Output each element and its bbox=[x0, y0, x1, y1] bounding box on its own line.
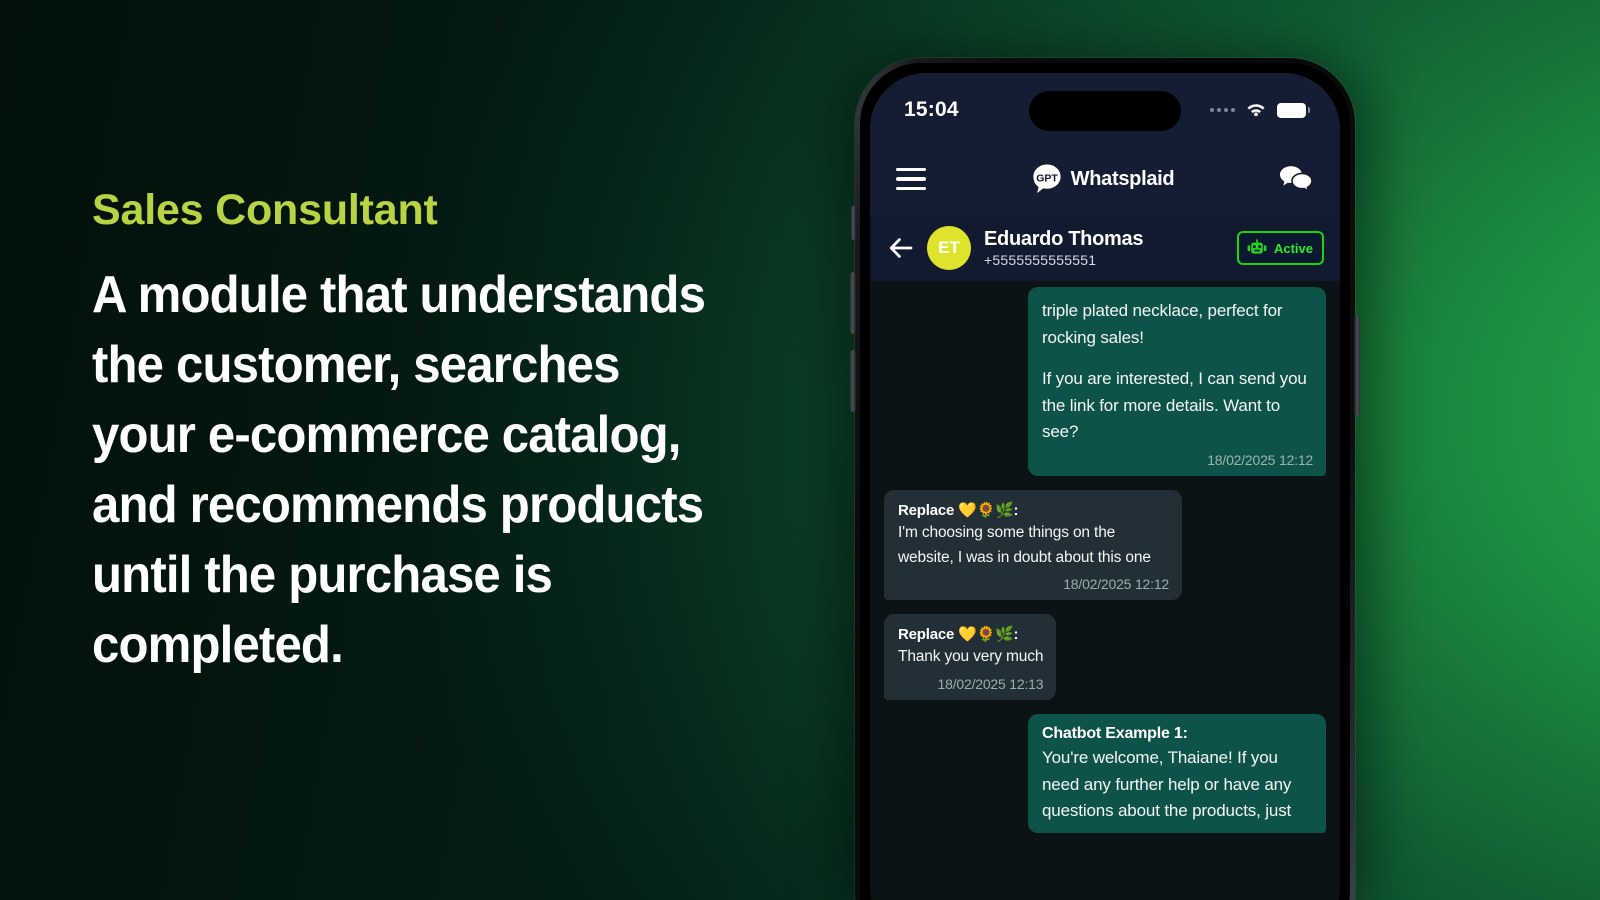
contact-header: ET Eduardo Thomas +5555555555551 bbox=[870, 215, 1340, 281]
status-indicators bbox=[1210, 101, 1306, 119]
power-button[interactable] bbox=[1354, 316, 1360, 416]
app-bar: GPT Whatsplaid bbox=[870, 143, 1340, 215]
message-row: Replace 💛🌻🌿:I'm choosing some things on … bbox=[884, 490, 1326, 600]
message-list: triple plated necklace, perfect for rock… bbox=[884, 293, 1326, 847]
message-text: Thank you very much bbox=[898, 645, 1043, 669]
chat-area[interactable]: triple plated necklace, perfect for rock… bbox=[870, 281, 1340, 900]
message-row: Replace 💛🌻🌿:Thank you very much18/02/202… bbox=[884, 614, 1326, 699]
incoming-message-bubble[interactable]: Replace 💛🌻🌿:I'm choosing some things on … bbox=[884, 490, 1182, 600]
message-timestamp: 18/02/2025 12:12 bbox=[1042, 452, 1313, 468]
brand-logo: GPT Whatsplaid bbox=[1030, 162, 1175, 196]
contact-phone: +5555555555551 bbox=[984, 252, 1143, 268]
promo-eyebrow: Sales Consultant bbox=[92, 188, 772, 233]
outgoing-message-bubble[interactable]: triple plated necklace, perfect for rock… bbox=[1028, 287, 1326, 476]
message-header: Replace 💛🌻🌿: bbox=[898, 625, 1043, 643]
message-header: Chatbot Example 1: bbox=[1042, 725, 1313, 743]
message-text: I'm choosing some things on the website,… bbox=[898, 521, 1169, 570]
message-text: You're welcome, Thaiane! If you need any… bbox=[1042, 745, 1313, 826]
chats-icon[interactable] bbox=[1278, 164, 1314, 194]
wifi-icon bbox=[1244, 101, 1268, 119]
hamburger-menu-icon[interactable] bbox=[896, 168, 926, 191]
paragraph-gap bbox=[1042, 352, 1313, 366]
robot-icon bbox=[1246, 238, 1268, 258]
phone-mockup: 15:04 bbox=[855, 58, 1355, 900]
status-bar: 15:04 bbox=[870, 73, 1340, 143]
incoming-message-bubble[interactable]: Replace 💛🌻🌿:Thank you very much18/02/202… bbox=[884, 614, 1056, 699]
status-badge[interactable]: Active bbox=[1237, 231, 1324, 265]
status-badge-label: Active bbox=[1274, 241, 1313, 256]
battery-icon bbox=[1277, 103, 1306, 118]
message-header: Replace 💛🌻🌿: bbox=[898, 501, 1169, 519]
message-row: triple plated necklace, perfect for rock… bbox=[884, 293, 1326, 476]
message-text: triple plated necklace, perfect for rock… bbox=[1042, 298, 1313, 352]
message-row: Chatbot Example 1:You're welcome, Thaian… bbox=[884, 714, 1326, 834]
message-text: If you are interested, I can send you th… bbox=[1042, 366, 1313, 447]
promo-copy: Sales Consultant A module that understan… bbox=[92, 188, 772, 681]
silent-switch[interactable] bbox=[851, 206, 856, 240]
back-arrow-icon[interactable] bbox=[888, 235, 914, 261]
promo-headline: A module that understands the customer, … bbox=[92, 261, 735, 681]
phone-frame: 15:04 bbox=[855, 58, 1355, 900]
svg-text:GPT: GPT bbox=[1036, 172, 1058, 184]
gpt-bubble-icon: GPT bbox=[1030, 162, 1064, 196]
message-timestamp: 18/02/2025 12:13 bbox=[898, 676, 1043, 692]
phone-bezel: 15:04 bbox=[860, 63, 1350, 900]
dynamic-island bbox=[1029, 91, 1181, 131]
signal-dots-icon bbox=[1210, 108, 1235, 112]
volume-down-button[interactable] bbox=[850, 350, 856, 412]
avatar[interactable]: ET bbox=[927, 226, 971, 270]
phone-screen: 15:04 bbox=[870, 73, 1340, 900]
volume-up-button[interactable] bbox=[850, 272, 856, 334]
message-timestamp: 18/02/2025 12:12 bbox=[898, 576, 1169, 592]
brand-name: Whatsplaid bbox=[1071, 168, 1175, 191]
outgoing-message-bubble[interactable]: Chatbot Example 1:You're welcome, Thaian… bbox=[1028, 714, 1326, 834]
status-time: 15:04 bbox=[904, 98, 959, 122]
contact-name: Eduardo Thomas bbox=[984, 228, 1143, 251]
contact-meta: Eduardo Thomas +5555555555551 bbox=[984, 228, 1143, 268]
